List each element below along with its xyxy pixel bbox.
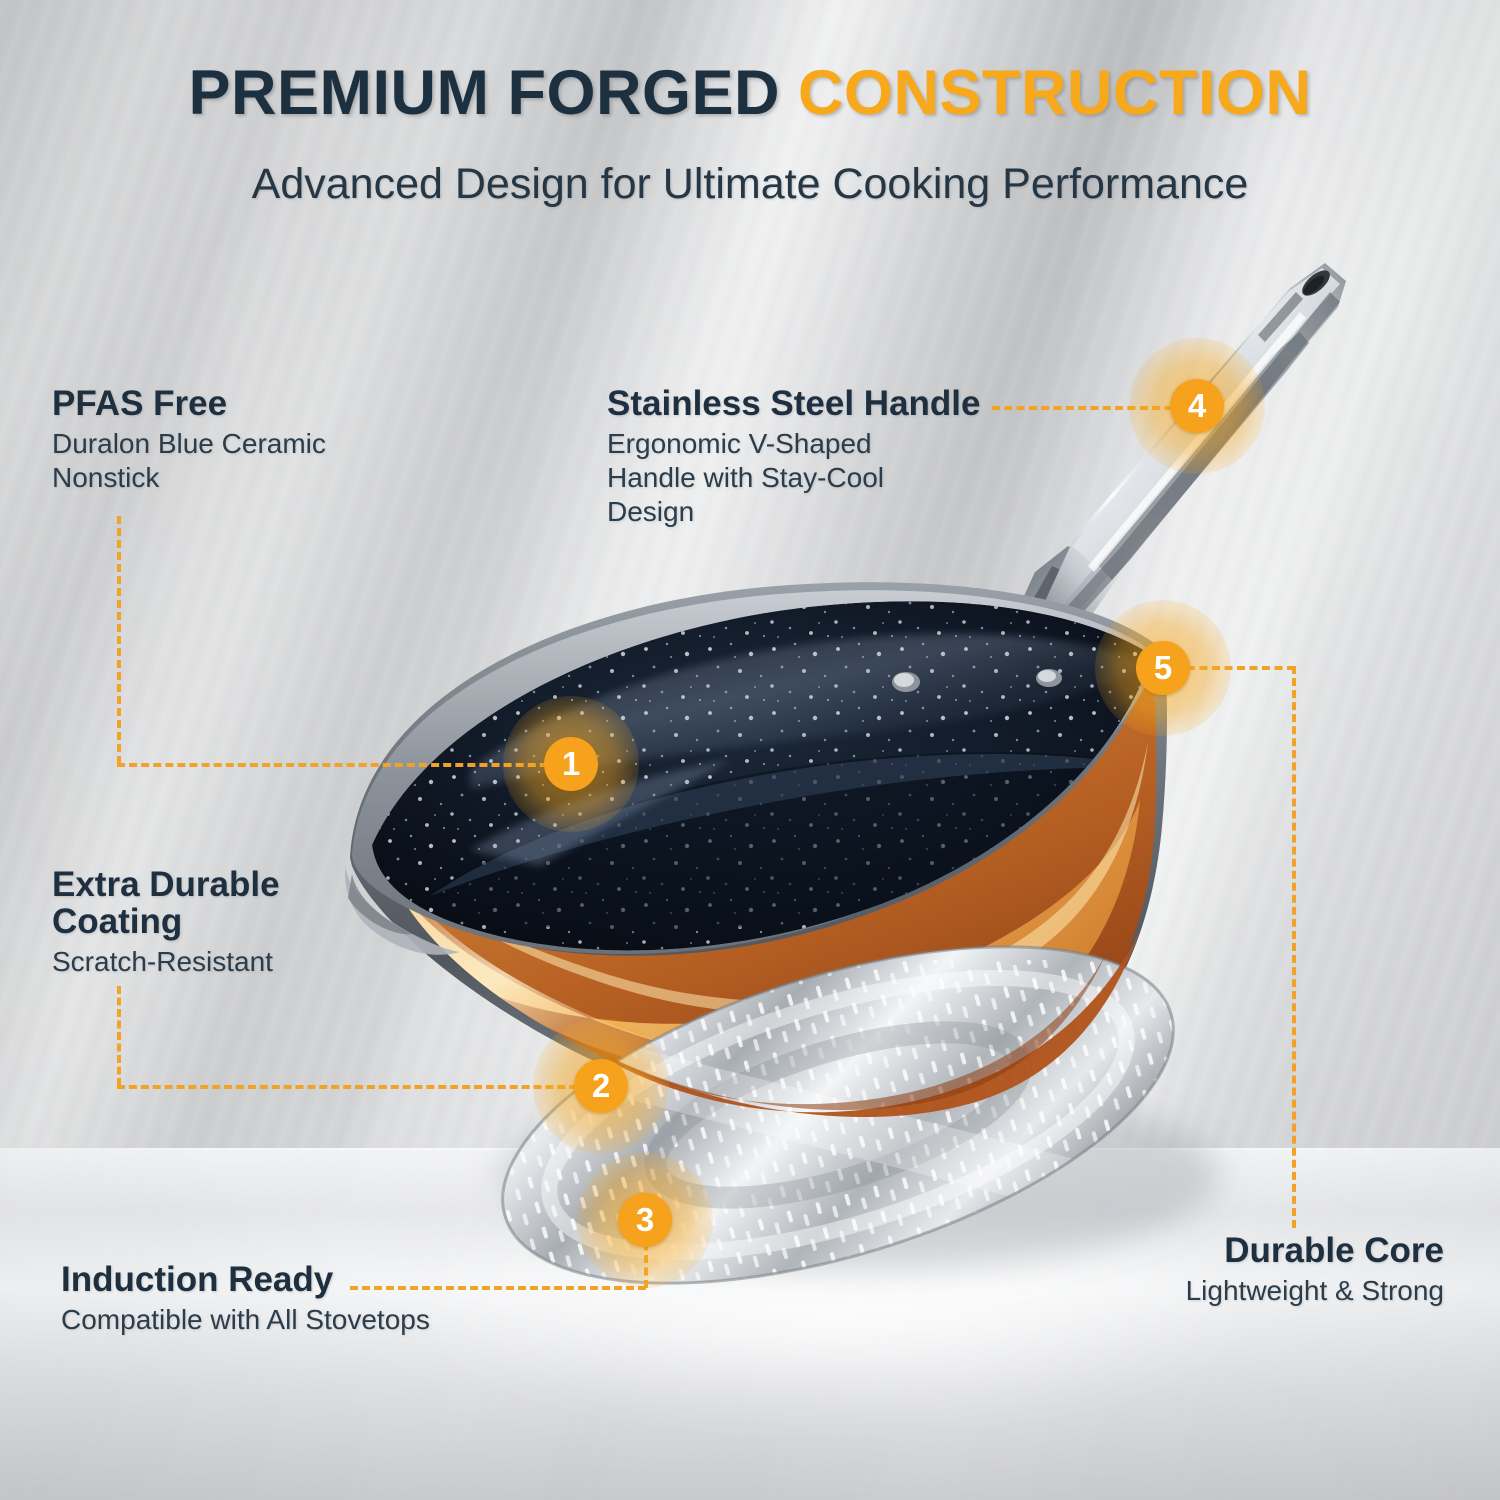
connector-line-2-horizontal <box>117 1085 601 1089</box>
page-subtitle: Advanced Design for Ultimate Cooking Per… <box>0 160 1500 209</box>
badge-1[interactable]: 1 <box>544 737 598 791</box>
callout-4-title: Stainless Steel Handle <box>607 385 1037 422</box>
infographic-canvas: PREMIUM FORGED CONSTRUCTION Advanced Des… <box>0 0 1500 1500</box>
connector-line-1-vertical <box>117 516 121 764</box>
connector-line-2-vertical <box>117 986 121 1086</box>
connector-line-1-horizontal <box>117 763 572 767</box>
badge-2[interactable]: 2 <box>574 1059 628 1113</box>
callout-durable-core: Durable Core Lightweight & Strong <box>1000 1232 1444 1308</box>
callout-4-subtitle: Ergonomic V-Shaped Handle with Stay-Cool… <box>607 427 1037 529</box>
callout-5-title: Durable Core <box>1000 1232 1444 1269</box>
callout-2-title-line-1: Extra Durable <box>52 866 452 903</box>
callout-extra-durable-coating: Extra Durable Coating Scratch-Resistant <box>52 866 452 979</box>
callout-2-title-line-2: Coating <box>52 903 452 940</box>
page-title: PREMIUM FORGED CONSTRUCTION <box>0 62 1500 125</box>
title-part-accent: CONSTRUCTION <box>798 58 1311 128</box>
callout-5-subtitle: Lightweight & Strong <box>1000 1274 1444 1308</box>
connector-line-5-vertical <box>1292 666 1296 1228</box>
badge-3[interactable]: 3 <box>618 1193 672 1247</box>
callout-1-subtitle-line-2: Nonstick <box>52 461 452 495</box>
callout-4-subtitle-line-2: Handle with Stay-Cool <box>607 461 1037 495</box>
callout-1-subtitle: Duralon Blue Ceramic Nonstick <box>52 427 452 495</box>
callout-2-subtitle: Scratch-Resistant <box>52 945 452 979</box>
callout-induction-ready: Induction Ready Compatible with All Stov… <box>61 1261 521 1337</box>
callout-1-subtitle-line-1: Duralon Blue Ceramic <box>52 427 452 461</box>
callout-4-subtitle-line-3: Design <box>607 495 1037 529</box>
callout-stainless-steel-handle: Stainless Steel Handle Ergonomic V-Shape… <box>607 385 1037 530</box>
callout-pfas-free: PFAS Free Duralon Blue Ceramic Nonstick <box>52 385 452 495</box>
badge-5[interactable]: 5 <box>1136 641 1190 695</box>
callout-3-subtitle: Compatible with All Stovetops <box>61 1303 521 1337</box>
callout-2-title: Extra Durable Coating <box>52 866 452 940</box>
title-part-primary: PREMIUM FORGED <box>189 58 799 128</box>
badge-4[interactable]: 4 <box>1170 379 1224 433</box>
callout-3-title: Induction Ready <box>61 1261 521 1298</box>
stainless-steel-handle <box>1013 263 1346 640</box>
callout-1-title: PFAS Free <box>52 385 452 422</box>
callout-4-subtitle-line-1: Ergonomic V-Shaped <box>607 427 1037 461</box>
